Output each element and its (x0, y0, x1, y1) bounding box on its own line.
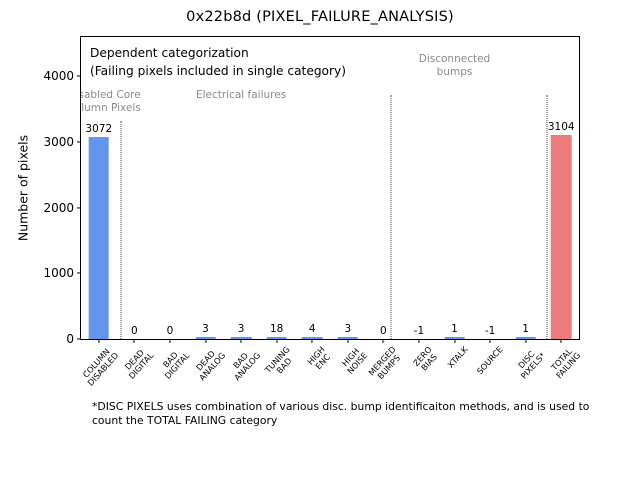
x-axis-tick-mark (312, 339, 313, 343)
bar (551, 135, 572, 339)
section-label: Electrical failures (196, 89, 286, 102)
y-axis-tick-mark (77, 338, 81, 339)
x-axis-tick-mark (561, 339, 562, 343)
bar-value-label: 3 (202, 323, 209, 335)
y-axis-tick-mark (77, 141, 81, 142)
x-axis-tick-mark (383, 339, 384, 343)
x-axis-tick-label: DEADDIGITAL (121, 345, 156, 381)
section-divider (120, 121, 121, 339)
x-axis-tick-label: DEADANALOG (190, 345, 227, 383)
bar-value-label: 0 (380, 325, 387, 337)
x-axis-tick-label: BADDIGITAL (156, 345, 191, 381)
x-axis-tick-mark (490, 339, 491, 343)
y-axis-tick-label: 2000 (43, 201, 74, 215)
x-axis-tick-label: HIGHENC (306, 345, 334, 373)
bar-value-label: 3 (238, 323, 245, 335)
x-axis-tick-mark (134, 339, 135, 343)
bar-value-label: 0 (131, 325, 138, 337)
section-label-line: Column Pixels (81, 102, 141, 115)
section-label-line: bumps (419, 66, 490, 79)
bar-value-label: 1 (451, 323, 458, 335)
y-axis-tick-mark (77, 207, 81, 208)
x-axis-tick-label-line: XTALK (446, 345, 470, 370)
chart-title: 0x22b8d (PIXEL_FAILURE_ANALYSIS) (0, 9, 640, 25)
bar-value-label: 3104 (548, 121, 575, 133)
x-axis-tick-mark (169, 339, 170, 343)
y-axis-tick-label: 1000 (43, 266, 74, 280)
y-axis-tick-mark (77, 273, 81, 274)
x-axis-tick-mark (276, 339, 277, 343)
y-axis-tick-label: 4000 (43, 69, 74, 83)
x-axis-tick-label: COLUMNDISABLED (79, 345, 120, 388)
x-axis-tick-label: XTALK (446, 345, 470, 370)
chart-figure: 0x22b8d (PIXEL_FAILURE_ANALYSIS) Depende… (0, 0, 640, 480)
bar-value-label: -1 (485, 325, 495, 337)
x-axis-tick-label: TOTALFAILING (548, 345, 583, 381)
x-axis-tick-label-line: SOURCE (475, 345, 504, 376)
section-label-line: Disconnected (419, 53, 490, 66)
bar-value-label: 3 (344, 323, 351, 335)
plot-axes: Number of pixels Disabled CoreColumn Pix… (80, 36, 580, 340)
y-axis-tick-label: 3000 (43, 135, 74, 149)
footnote: *DISC PIXELS uses combination of various… (92, 400, 612, 428)
bar-value-label: -1 (414, 325, 424, 337)
x-axis-tick-mark (347, 339, 348, 343)
bar-value-label: 0 (167, 325, 174, 337)
x-axis-tick-mark (241, 339, 242, 343)
section-label-line: Disabled Core (81, 89, 141, 102)
x-axis-tick-label: HIGHNOISE (339, 345, 370, 376)
x-axis-tick-label: TUNINGBAD (263, 345, 298, 381)
x-axis-tick-label: MERGEDBUMPS (367, 345, 405, 384)
y-axis-label: Number of pixels (16, 135, 31, 241)
x-axis-tick-label: ZEROBIAS (412, 345, 441, 374)
section-divider (391, 95, 392, 339)
bar-value-label: 4 (309, 323, 316, 335)
bar-value-label: 1 (522, 323, 529, 335)
x-axis-tick-mark (98, 339, 99, 343)
section-label: Disabled CoreColumn Pixels (81, 89, 141, 114)
x-axis-tick-mark (454, 339, 455, 343)
x-axis-tick-label: SOURCE (475, 345, 504, 376)
x-axis-tick-label: BADANALOG (226, 345, 263, 383)
section-label: Disconnectedbumps (419, 53, 490, 78)
plot-area: Disabled CoreColumn PixelsElectrical fai… (81, 37, 579, 339)
x-axis-tick-mark (205, 339, 206, 343)
y-axis-tick-mark (77, 76, 81, 77)
x-axis-tick-mark (525, 339, 526, 343)
y-axis-tick-label: 0 (66, 332, 74, 346)
bar (88, 137, 109, 339)
bar-value-label: 3072 (85, 123, 112, 135)
x-axis-tick-label: DISCPIXELS* (512, 345, 547, 381)
bar-value-label: 18 (270, 323, 283, 335)
section-label-line: Electrical failures (196, 89, 286, 102)
x-axis-tick-mark (418, 339, 419, 343)
